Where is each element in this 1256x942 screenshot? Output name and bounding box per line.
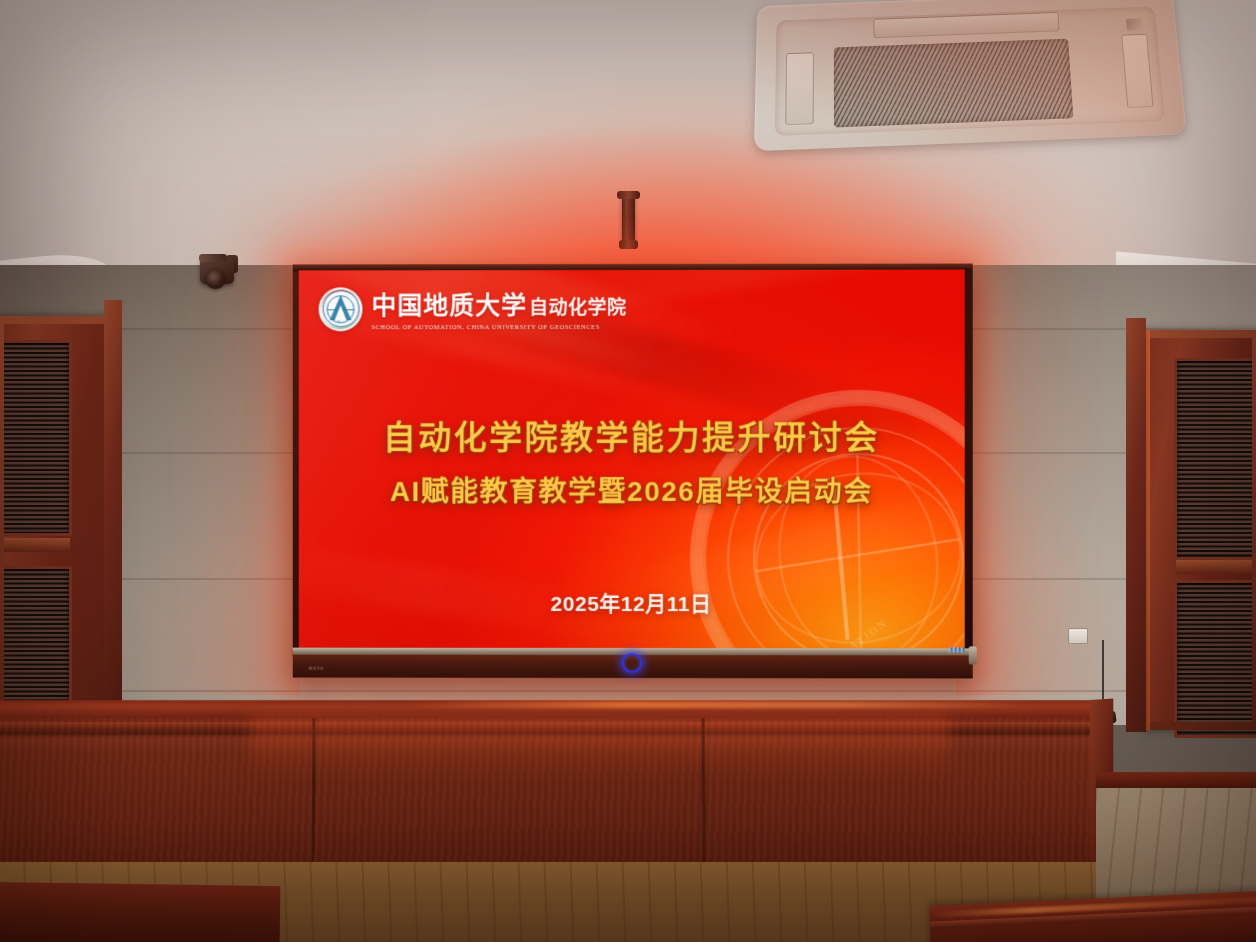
screen-content-panel: 中国地质大学 SCHOOL OF AUTOMATION GEOSCIENCES … [299,270,965,649]
slide-date: 2025年12月11日 [299,588,965,619]
ceiling-shadow [0,0,430,268]
door-right[interactable] [1142,330,1256,730]
ceiling-ac-unit [754,0,1186,151]
ac-louver-left [785,52,814,125]
logo-school-cn: 自动化学院 [529,293,626,320]
foreground-desk-left [0,882,280,942]
logo-institution-en: SCHOOL OF AUTOMATION, CHINA UNIVERSITY O… [371,324,626,331]
podium-moulding-rail [0,722,1099,734]
cug-emblem-icon [319,287,363,331]
screen-bezel-brand: auto [309,666,325,672]
wall-camera-icon [196,252,242,292]
led-display-screen[interactable]: 中国地质大学 SCHOOL OF AUTOMATION GEOSCIENCES … [293,264,973,679]
door-right-post [1126,318,1146,732]
screen-side-button[interactable] [969,646,977,664]
slide-subtitle: AI赋能教育教学暨2026届毕设启动会 [299,470,965,510]
logo-text-block: 中国地质大学自动化学院 SCHOOL OF AUTOMATION, CHINA … [371,286,626,331]
conference-room-scene: 中国地质大学 SCHOOL OF AUTOMATION GEOSCIENCES … [0,0,1256,942]
podium-top-highlight [410,701,1029,708]
ceiling-hook-fixture [622,196,635,244]
screen-ir-sensor [949,647,965,652]
ac-grille-icon [834,39,1074,128]
slide-logo-lockup: 中国地质大学自动化学院 SCHOOL OF AUTOMATION, CHINA … [319,286,627,331]
slide-title: 自动化学院教学能力提升研讨会 [299,411,965,459]
logo-cn-row: 中国地质大学自动化学院 [371,286,626,322]
screen-bezel-bottom: auto [293,655,973,679]
door-left[interactable] [0,316,112,728]
door-left-post [104,300,122,732]
emblem-a-cutout [335,305,347,320]
camera-lens-icon [206,270,225,289]
power-led-icon[interactable] [622,653,642,673]
logo-institution-cn: 中国地质大学 [371,286,527,322]
door-right-frame [1142,330,1256,730]
ac-brand-mark [1126,18,1143,30]
door-left-frame [0,316,112,728]
camera-top [199,254,227,262]
